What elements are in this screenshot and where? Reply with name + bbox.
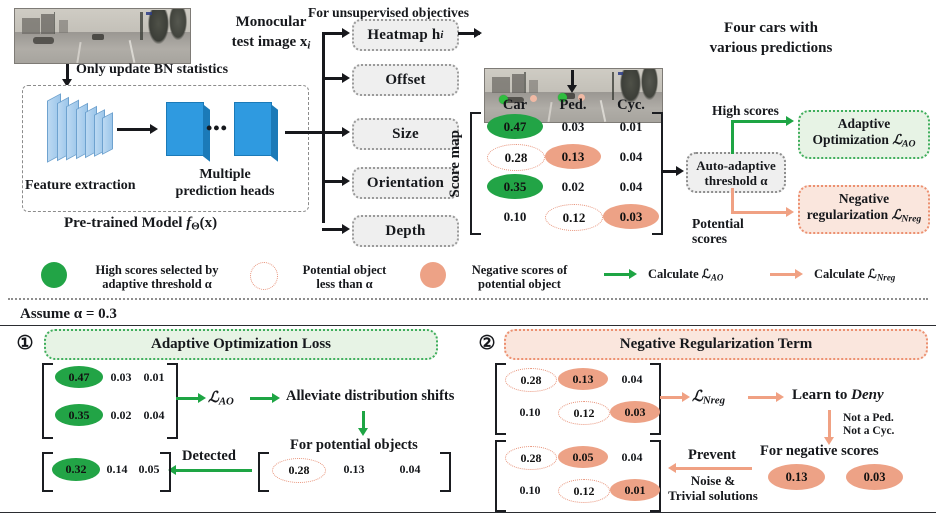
assume-alpha-label: Assume α = 0.3 [20,306,117,323]
panel2-matrixA-cell-0-0: 0.28 [505,368,557,392]
panel1-matrixA-cell-0-1: 0.03 [104,366,138,388]
panel2-not-cyc: Not a Cyc. [843,425,894,438]
negative-regularization-box[interactable]: Negative regularization ℒNreg [798,185,930,234]
four-cars-line1: Four cars with [676,18,866,38]
panel2-loss-label: ℒNreg [692,387,725,407]
panel1-number: ① [14,332,36,354]
panel2-matrixB-cell-0-2: 0.04 [612,446,652,468]
legend-text-salmon-arrow: Calculate ℒNreg [814,266,895,282]
head-box-heatmap-label: Heatmap h [367,27,440,44]
head-box-size[interactable]: Size [352,118,459,150]
panel2-noise-line2: Trivial solutions [648,488,778,503]
potential-scores-line2: scores [692,231,744,246]
potential-scores-label: Potential scores [692,216,744,246]
head-box-heatmap-sub: i [440,29,443,41]
feature-extraction-label: Feature extraction [25,178,136,194]
potential-scores-line1: Potential [692,216,744,231]
legend-ao-sub: AO [711,272,724,282]
model-theta-symbol: Θ [191,221,199,233]
panel1-matrixB-cell-0-1: 0.13 [333,458,375,481]
panel2-matrixA-cell-1-1: 0.12 [558,401,610,425]
bn-statistics-note: Only update BN statistics [76,62,228,78]
panel2-not-labels: Not a Ped. Not a Cyc. [843,412,894,438]
score-cell-2-2: 0.04 [606,174,656,199]
panel2-matrixA-cell-1-0: 0.10 [505,401,555,423]
panel2-deny-emph: Deny [851,387,884,403]
four-cars-line2: various predictions [676,38,866,58]
nreg-box-line2: regularization ℒNreg [807,207,922,227]
legend-salmon-line1: Negative scores of [452,263,587,277]
threshold-line1: Auto-adaptive [696,158,775,173]
panel2-loss-symbol: ℒ [692,389,703,405]
panel2-noise-line1: Noise & [648,473,778,488]
panel2-matrixB-bracket-left [495,440,506,512]
score-cell-0-1: 0.03 [548,114,598,139]
panel1-matrixC-cell-0-2: 0.05 [131,458,167,481]
panel2-for-negative-scores-label: For negative scores [760,443,879,460]
panel1-matrixA-cell-1-0: 0.35 [55,404,103,426]
score-cell-3-0: 0.10 [487,204,543,229]
panel2-matrixA-cell-1-2: 0.03 [610,401,660,423]
panel2-matrixA-bracket-left [495,363,506,435]
ao-loss-symbol: ℒ [892,132,902,147]
legend-nreg-sub: Nreg [877,272,896,282]
panel1-for-potential-label: For potential objects [290,437,418,454]
legend-text-green-arrow: Calculate ℒAO [648,266,723,282]
head-box-orientation[interactable]: Orientation [352,167,459,199]
panel2-matrixB-cell-1-1: 0.12 [558,479,610,503]
ao-box-line2: Optimization ℒAO [812,132,915,152]
panel1-matrixC-bracket-left [42,452,53,492]
panel1-matrixB-cell-0-2: 0.04 [389,458,431,481]
scoremap-bracket-left [470,112,481,235]
head-box-depth[interactable]: Depth [352,215,459,247]
legend-text-salmon: Negative scores of potential object [452,263,587,291]
panel1-matrixA-cell-0-2: 0.01 [137,366,171,388]
high-scores-label: High scores [712,103,779,119]
panel1-loss-symbol: ℒ [208,390,219,406]
nreg-loss-sub: Nreg [901,214,921,225]
panel1-matrixB-bracket-left [258,452,269,492]
legend-dotted-line2: less than α [282,277,407,291]
legend-marker-green [41,262,67,288]
head-box-heatmap[interactable]: Heatmap hi [352,19,459,51]
panel2-matrixA-cell-0-1: 0.13 [558,368,608,390]
score-cell-1-0: 0.28 [487,144,545,171]
panel2-matrixB-cell-0-0: 0.28 [505,446,557,470]
panel2-matrixB-cell-0-1: 0.05 [558,446,608,468]
panel1-matrixA-bracket-left [42,363,53,439]
threshold-line2: threshold α [704,173,767,188]
legend-marker-dotted [250,262,278,290]
ao-loss-sub: AO [902,139,916,150]
panel1-title: Adaptive Optimization Loss [44,329,438,360]
panel1-matrixC-cell-0-0: 0.32 [52,458,100,481]
score-cell-3-2: 0.03 [603,204,659,229]
ao-box-line1: Adaptive [838,116,891,132]
legend-green-line2: adaptive threshold α [72,277,242,291]
pred-heads-line1: Multiple [160,166,290,183]
score-cell-2-1: 0.02 [548,174,598,199]
score-column-ped: Ped. [548,97,598,114]
panel2-number: ② [476,332,498,354]
nreg-box-line1: Negative [839,191,889,207]
bottom-divider [0,512,936,513]
score-cell-2-0: 0.35 [487,174,543,199]
legend-text-green: High scores selected by adaptive thresho… [72,263,242,291]
panel1-matrixA-cell-1-1: 0.02 [104,404,138,426]
model-x-symbol: (x) [200,215,218,231]
prediction-heads-label: Multiple prediction heads [160,166,290,200]
panel2-learn-to-deny-label: Learn to Deny [792,387,884,404]
panel2-matrixB-cell-1-0: 0.10 [505,479,555,501]
input-caption-sub: i [307,40,310,52]
score-map-label: Score map [447,130,464,198]
panel2-prevent-label: Prevent [670,447,754,464]
panel1-loss-label: ℒAO [208,388,234,408]
pretrained-model-caption: Pre-trained Model fΘ(x) [64,215,217,233]
panel2-learn-to: Learn to [792,387,851,403]
legend-salmon-line2: potential object [452,277,587,291]
legend-text-dotted: Potential object less than α [282,263,407,291]
panel1-detected-label: Detected [182,448,236,465]
head-box-offset[interactable]: Offset [352,64,459,96]
panel2-matrixB-cell-1-2: 0.01 [610,479,660,501]
panel2-not-ped: Not a Ped. [843,412,894,425]
score-cell-1-2: 0.04 [606,144,656,169]
nreg-loss-symbol: ℒ [892,207,902,222]
panel2-matrixA-cell-0-2: 0.04 [612,368,652,390]
input-test-image [14,8,191,64]
panel1-loss-sub: AO [219,396,234,408]
score-cell-1-1: 0.13 [545,144,601,169]
adaptive-optimization-box[interactable]: Adaptive Optimization ℒAO [798,110,930,159]
panel1-matrixB-bracket-right [440,452,451,492]
panel1-matrixB-cell-0-0: 0.28 [272,458,326,483]
panel2-title: Negative Regularization Term [504,329,928,360]
legend-green-line1: High scores selected by [72,263,242,277]
four-cars-caption: Four cars with various predictions [676,18,866,58]
score-cell-3-1: 0.12 [545,204,603,231]
pred-heads-line2: prediction heads [160,183,290,200]
panel2-negative-score-1: 0.03 [846,464,903,490]
score-cell-0-2: 0.01 [606,114,656,139]
score-column-cyc: Cyc. [606,97,656,114]
panel2-noise-label: Noise & Trivial solutions [648,473,778,503]
panel1-matrixC-cell-0-1: 0.14 [99,458,135,481]
legend-marker-salmon [420,262,446,288]
section-divider-middle [0,325,936,326]
legend-dotted-line1: Potential object [282,263,407,277]
score-column-car: Car [490,97,540,114]
ellipsis-dots: ••• [206,118,228,139]
panel1-alleviate-label: Alleviate distribution shifts [286,388,454,405]
auto-adaptive-threshold-box[interactable]: Auto-adaptive threshold α [686,152,786,193]
panel2-loss-sub: Nreg [703,395,725,407]
panel1-matrixA-cell-1-2: 0.04 [137,404,171,426]
panel1-matrixA-cell-0-0: 0.47 [55,366,103,388]
score-cell-0-0: 0.47 [487,114,543,139]
legend-divider [8,298,928,300]
